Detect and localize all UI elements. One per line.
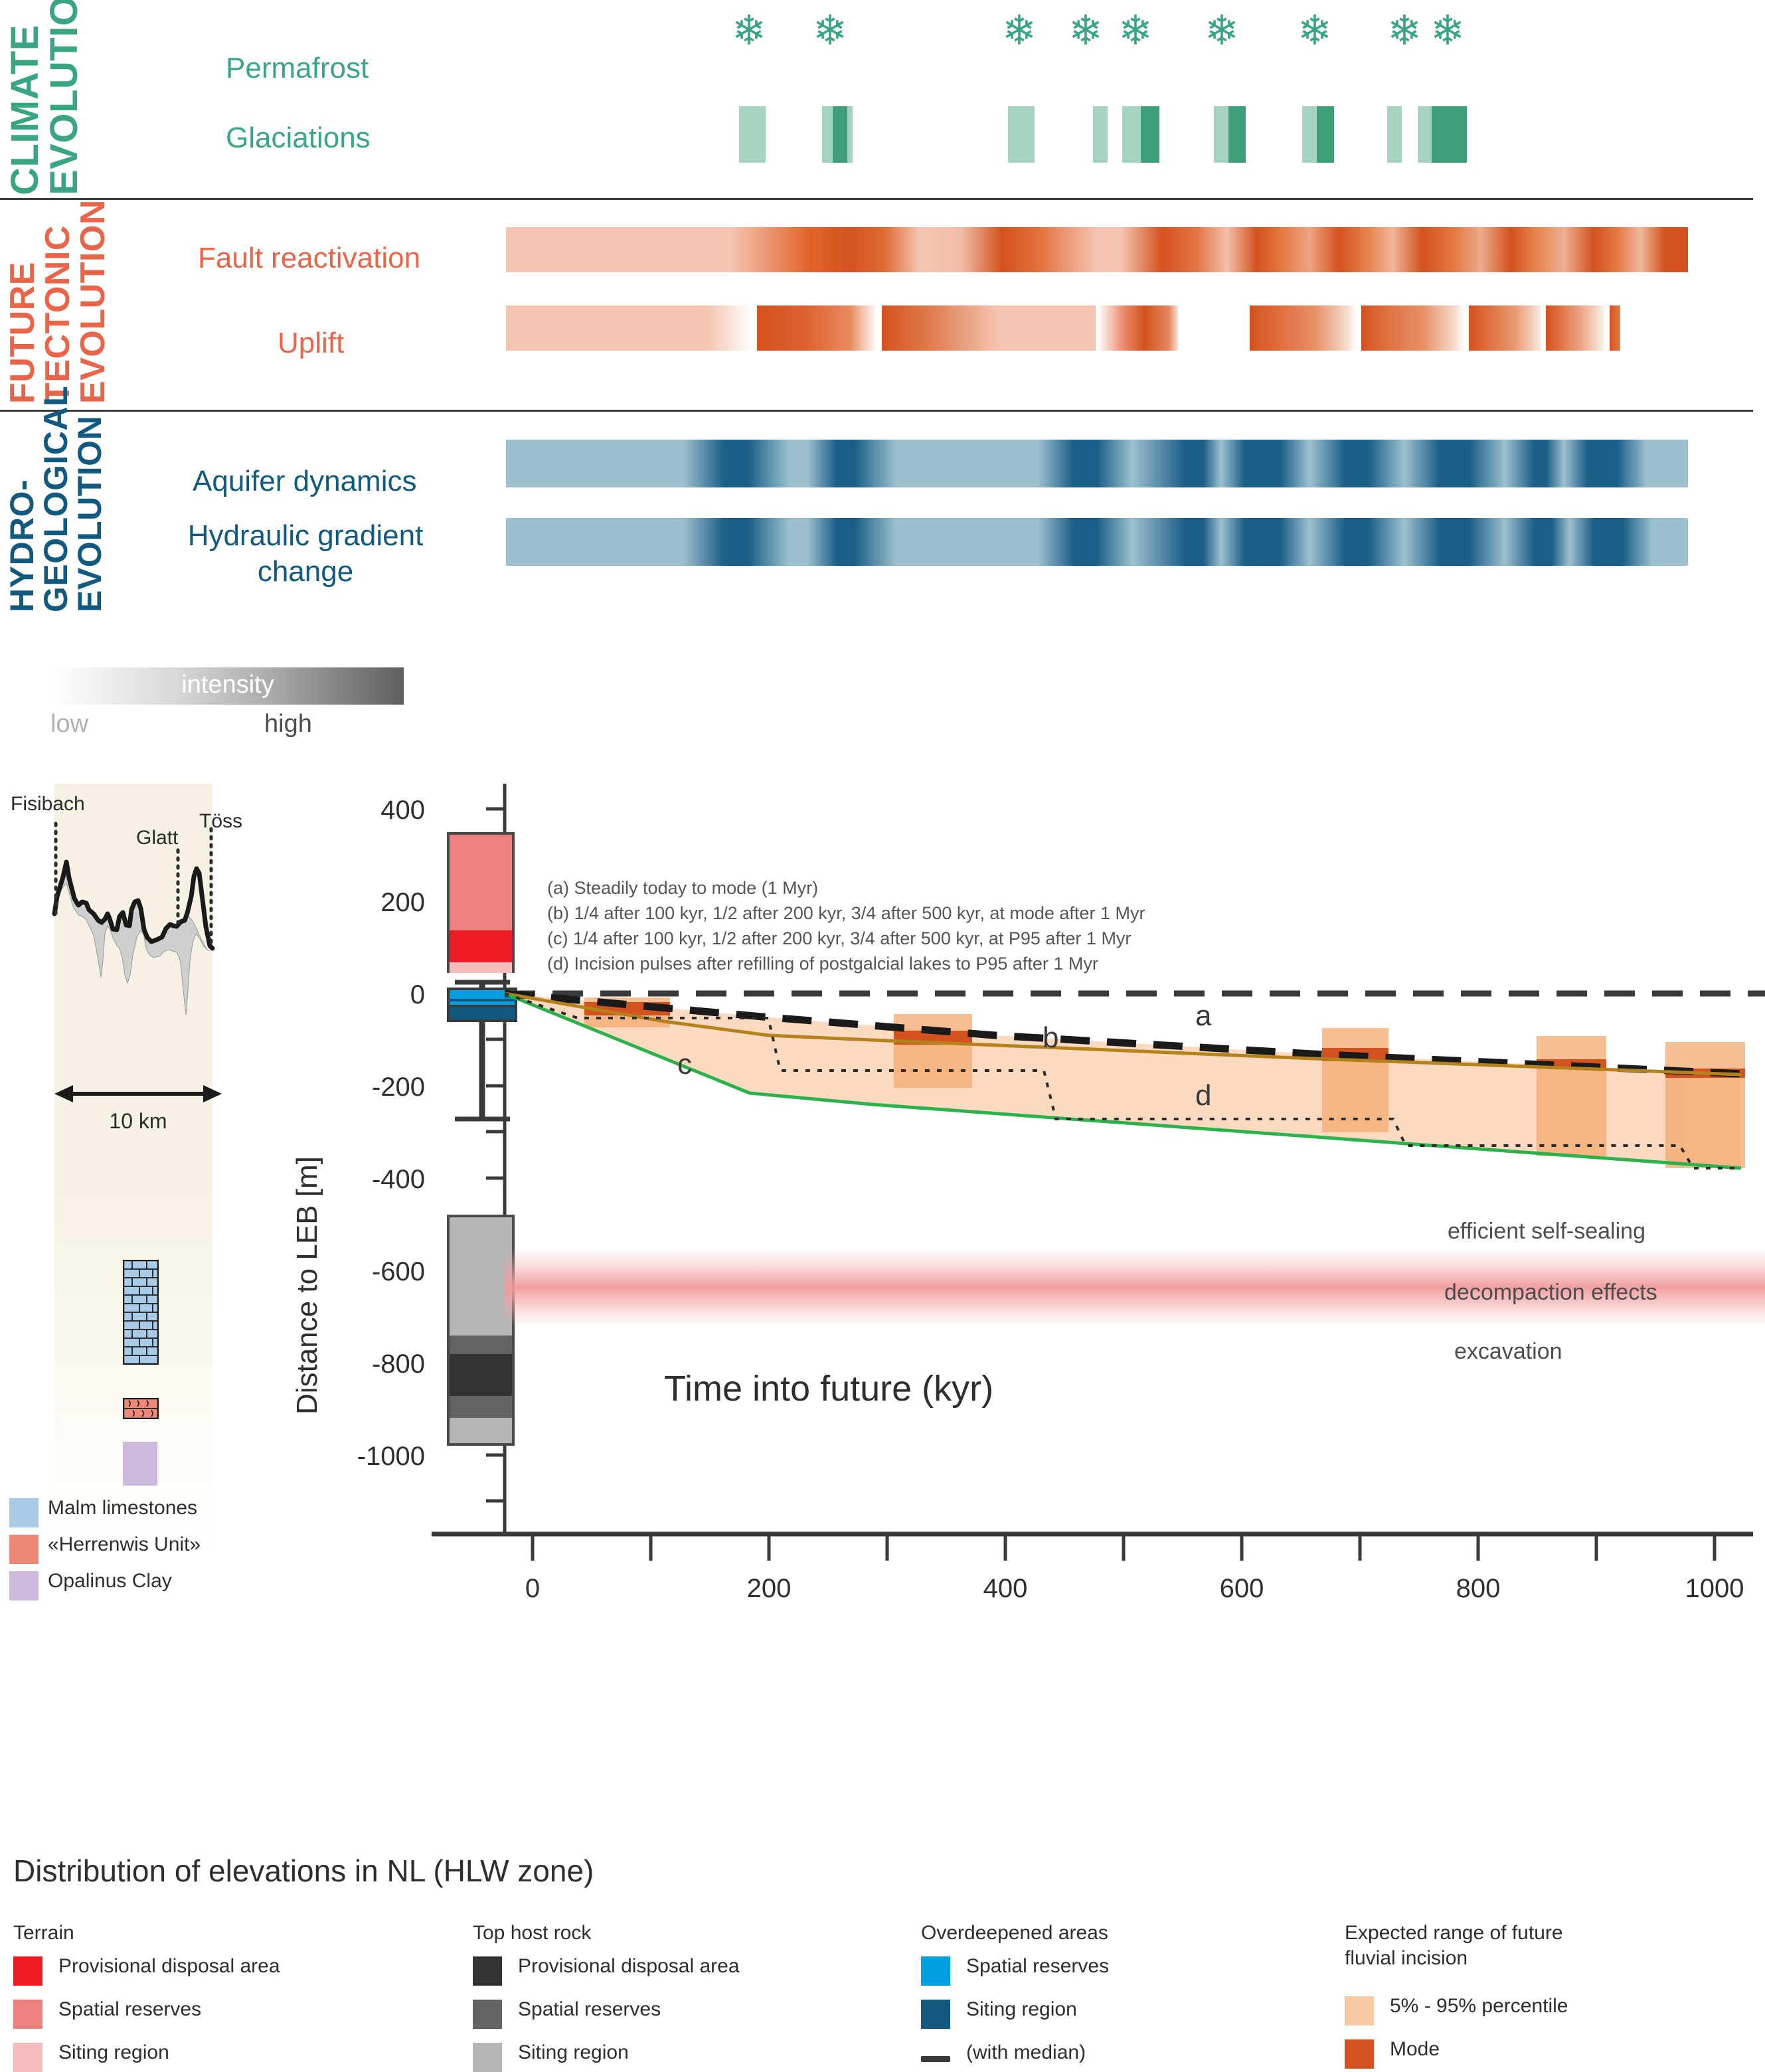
snowflake-icon: ❄ xyxy=(1068,11,1103,52)
legend-label: Provisional disposal area xyxy=(518,1955,740,1978)
glaciation-bar xyxy=(1387,106,1402,163)
legend-label: Siting region xyxy=(58,2041,169,2064)
x-tick-label: 600 xyxy=(1189,1574,1295,1604)
x-tick-label: 400 xyxy=(952,1574,1058,1604)
hostrock-reserves-band xyxy=(450,1336,512,1354)
legend-swatch xyxy=(921,2000,950,2029)
snowflake-icon: ❄ xyxy=(1387,11,1422,52)
legend-label: 5% - 95% percentile xyxy=(1390,1995,1568,2018)
snowflake-icon: ❄ xyxy=(732,11,766,52)
legend-swatch xyxy=(1345,2039,1374,2069)
bottom-legend: Distribution of elevations in NL (HLW zo… xyxy=(0,1873,1765,2069)
hydro-row-gradient-label: Hydraulic gradient change xyxy=(186,518,425,589)
intensity-high-label: high xyxy=(264,710,312,738)
main-chart: Distance to LEB [m] 400 200 0 -200 -400 … xyxy=(0,784,1765,1727)
uplift-segment xyxy=(1361,305,1464,351)
terrain-reserves-band xyxy=(450,835,512,930)
hostrock-disposal-band xyxy=(450,1354,512,1396)
legend-swatch xyxy=(473,2000,502,2029)
legend-label: Siting region xyxy=(518,2041,629,2064)
x-tick-label: 800 xyxy=(1425,1574,1531,1604)
x-tick-label: 1000 xyxy=(1661,1574,1765,1604)
tectonic-row-uplift-label: Uplift xyxy=(278,327,344,360)
x-axis xyxy=(432,1531,1760,1585)
legend-heading: Expected range of future fluvial incisio… xyxy=(1345,1921,1563,1970)
climate-section: CLIMATE EVOLUTION Permafrost Glaciations… xyxy=(0,0,1765,198)
uplift-segment xyxy=(1098,305,1178,351)
y-tick-label: 200 xyxy=(312,888,425,918)
snowflake-icon: ❄ xyxy=(1118,11,1153,52)
tectonic-section: FUTURE TECTONIC EVOLUTION Fault reactiva… xyxy=(0,201,1765,408)
glaciation-bar xyxy=(1093,106,1108,163)
legend-label: (with median) xyxy=(966,2041,1086,2064)
curve-label-d: d xyxy=(1195,1079,1211,1112)
glaciation-bar xyxy=(739,106,766,163)
legend-label: Spatial reserves xyxy=(966,1955,1109,1978)
legend-swatch xyxy=(921,1956,950,1986)
glaciation-bar xyxy=(1432,106,1467,163)
glaciation-bar xyxy=(1008,106,1035,163)
y-tick-label: 400 xyxy=(312,796,425,825)
incision-plot-canvas xyxy=(505,784,1765,1534)
legend-heading: Terrain xyxy=(13,1921,74,1946)
uplift-segment xyxy=(1546,305,1604,351)
curve-label-c: c xyxy=(677,1048,692,1081)
uplift-segment xyxy=(506,305,752,351)
permafrost-icon-track: ❄ ❄ ❄ ❄ ❄ ❄ ❄ ❄ ❄ xyxy=(0,11,1765,70)
uplift-segment xyxy=(1469,305,1541,351)
snowflake-icon: ❄ xyxy=(1205,11,1239,52)
uplift-segment xyxy=(1179,305,1246,351)
legend-swatch xyxy=(13,2043,42,2072)
curve-label-b: b xyxy=(1043,1021,1058,1055)
legend-label: Provisional disposal area xyxy=(58,1955,280,1978)
y-tick-label: -800 xyxy=(292,1349,425,1379)
uplift-segment xyxy=(1610,305,1620,351)
y-tick-label: -600 xyxy=(292,1257,425,1287)
x-tick-label: 200 xyxy=(716,1574,822,1604)
legend-heading: Top host rock xyxy=(473,1921,591,1946)
legend-label: Mode xyxy=(1390,2038,1440,2061)
glaciation-bar xyxy=(1317,106,1334,163)
uplift-band xyxy=(506,305,1688,351)
legend-swatch xyxy=(13,2000,42,2029)
hostrock-reserves-band xyxy=(450,1396,512,1418)
annotation-efficient-self-sealing: efficient self-sealing xyxy=(1448,1219,1645,1245)
intensity-title: intensity xyxy=(52,671,404,699)
hostrock-siting-band xyxy=(450,1418,512,1446)
uplift-segment xyxy=(1250,305,1356,351)
hydraulic-gradient-band xyxy=(506,518,1688,566)
annotation-decompaction-effects: decompaction effects xyxy=(1444,1280,1657,1306)
y-tick-label: -1000 xyxy=(272,1442,425,1472)
legend-swatch xyxy=(473,1956,502,1986)
y-tick-label: 0 xyxy=(312,980,425,1010)
snowflake-icon: ❄ xyxy=(1430,11,1465,52)
hydro-section: HYDRO- GEOLOGICAL EVOLUTION Aquifer dyna… xyxy=(0,413,1765,612)
divider-tectonic-hydro xyxy=(0,410,1753,412)
legend-label: Siting region xyxy=(966,1998,1077,2021)
legend-heading: Overdeepened areas xyxy=(921,1921,1108,1946)
hydro-section-title: HYDRO- GEOLOGICAL EVOLUTION xyxy=(5,420,107,612)
x-axis-label: Time into future (kyr) xyxy=(664,1368,993,1409)
legend-label: Spatial reserves xyxy=(58,1998,201,2021)
legend-swatch xyxy=(1345,1996,1374,2026)
glaciation-bar xyxy=(1228,106,1246,163)
legend-swatch xyxy=(13,1956,42,1986)
fault-reactivation-band xyxy=(506,227,1688,272)
snowflake-icon: ❄ xyxy=(1002,11,1037,52)
aquifer-dynamics-band xyxy=(506,440,1688,487)
glaciation-bar xyxy=(1141,106,1159,163)
curve-label-a: a xyxy=(1195,999,1211,1033)
snowflake-icon: ❄ xyxy=(1298,11,1332,52)
glaciation-bar-track xyxy=(0,106,1765,163)
uplift-segment xyxy=(757,305,877,351)
legend-label: Spatial reserves xyxy=(518,1998,661,2021)
glaciation-bar xyxy=(833,106,847,163)
hostrock-siting-band xyxy=(450,1217,512,1336)
median-line-icon xyxy=(921,2056,950,2062)
hydro-row-aquifer-label: Aquifer dynamics xyxy=(193,465,416,498)
divider-climate-tectonic xyxy=(0,198,1753,200)
y-tick-label: -200 xyxy=(292,1073,425,1102)
bottom-legend-title: Distribution of elevations in NL (HLW zo… xyxy=(13,1853,594,1889)
tectonic-section-title: FUTURE TECTONIC EVOLUTION xyxy=(5,205,111,404)
annotation-excavation: excavation xyxy=(1454,1339,1562,1365)
snowflake-icon: ❄ xyxy=(813,11,847,52)
x-tick-label: 0 xyxy=(479,1574,586,1604)
y-tick-label: -400 xyxy=(292,1165,425,1195)
terrain-disposal-band xyxy=(450,930,512,962)
tectonic-row-fault-label: Fault reactivation xyxy=(198,242,420,275)
uplift-segment xyxy=(882,305,1096,351)
legend-swatch xyxy=(473,2043,502,2072)
intensity-low-label: low xyxy=(50,710,88,738)
intensity-legend: intensity low high xyxy=(52,667,404,754)
